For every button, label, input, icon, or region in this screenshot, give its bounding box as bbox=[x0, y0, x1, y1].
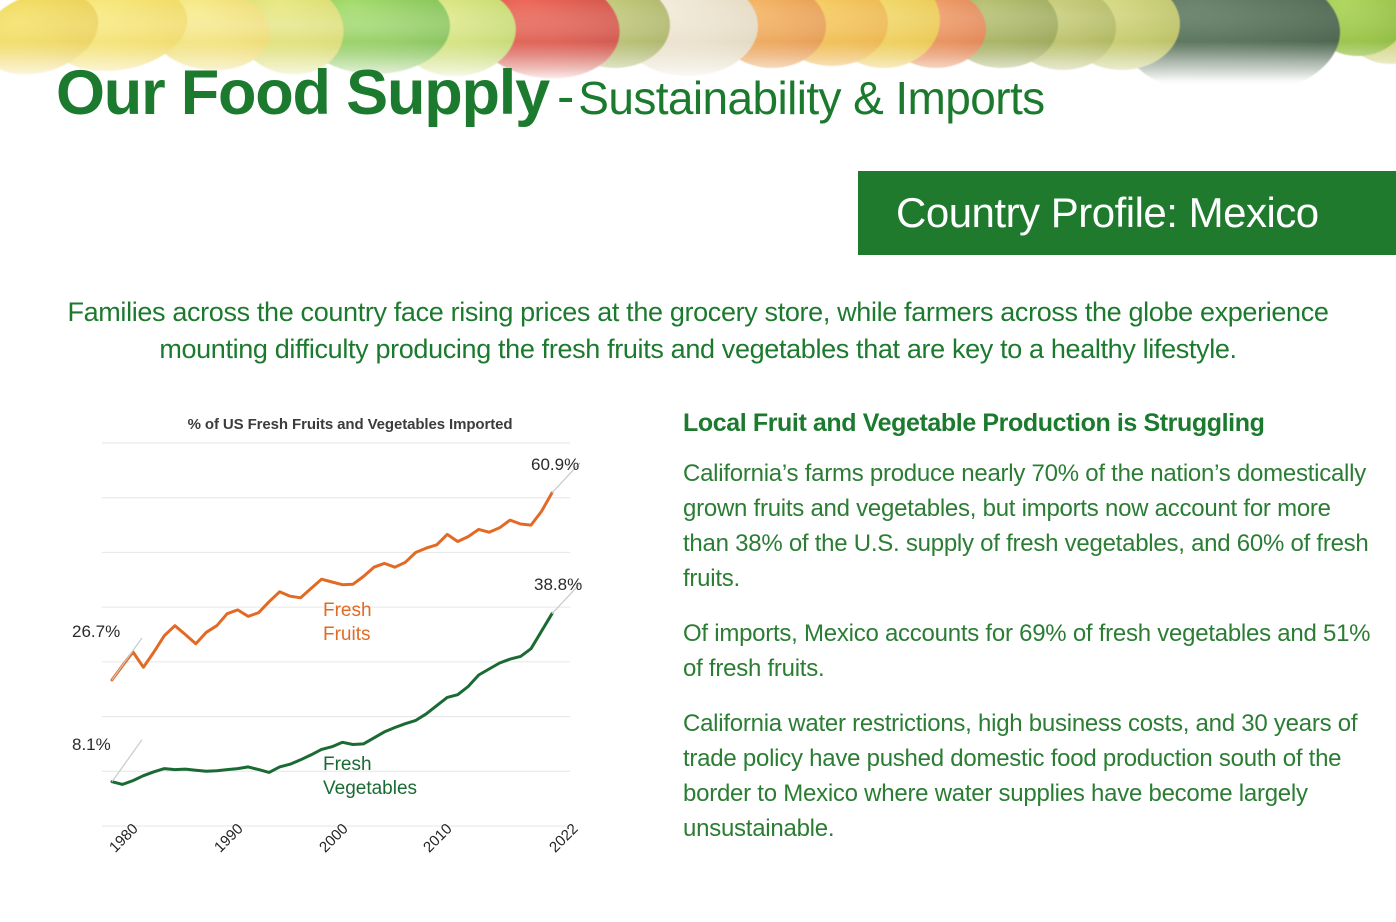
country-profile-label: Country Profile: Mexico bbox=[896, 189, 1319, 237]
title-main: Our Food Supply bbox=[56, 58, 549, 128]
right-column-paragraph-1: California’s farms produce nearly 70% of… bbox=[683, 456, 1373, 596]
produce-item bbox=[886, 0, 986, 68]
chart-series-fresh-fruits bbox=[112, 493, 552, 680]
annotation-fruits-start: 26.7% bbox=[72, 622, 120, 642]
series-label-fresh-fruits: Fresh Fruits bbox=[323, 599, 372, 647]
annotation-leader-line bbox=[112, 740, 142, 782]
produce-item bbox=[1190, 0, 1286, 68]
produce-item bbox=[1010, 0, 1116, 70]
annotation-vegetables-end: 38.8% bbox=[534, 575, 582, 595]
produce-item bbox=[718, 0, 826, 68]
produce-item bbox=[1120, 0, 1340, 86]
annotation-vegetables-start: 8.1% bbox=[72, 735, 111, 755]
produce-item bbox=[776, 0, 888, 66]
right-column-paragraph-2: Of imports, Mexico accounts for 69% of f… bbox=[683, 616, 1373, 686]
infographic-page: Our Food Supply-Sustainability & Imports… bbox=[0, 0, 1396, 922]
produce-item bbox=[828, 0, 940, 68]
title-subtitle: Sustainability & Imports bbox=[578, 72, 1044, 124]
right-column-heading: Local Fruit and Vegetable Production is … bbox=[683, 408, 1373, 438]
series-label-fresh-vegetables-line1: Fresh bbox=[323, 753, 417, 777]
right-text-column: Local Fruit and Vegetable Production is … bbox=[683, 408, 1373, 866]
page-title: Our Food Supply-Sustainability & Imports bbox=[56, 62, 1045, 125]
series-label-fresh-vegetables: Fresh Vegetables bbox=[323, 753, 417, 801]
intro-paragraph: Families across the country face rising … bbox=[26, 294, 1370, 368]
series-label-fresh-fruits-line2: Fruits bbox=[323, 623, 372, 647]
country-profile-banner: Country Profile: Mexico bbox=[858, 171, 1396, 255]
annotation-fruits-end: 60.9% bbox=[531, 455, 579, 475]
produce-item bbox=[946, 0, 1058, 68]
series-label-fresh-vegetables-line2: Vegetables bbox=[323, 777, 417, 801]
title-dash: - bbox=[549, 68, 578, 126]
produce-item bbox=[1310, 0, 1396, 56]
produce-item bbox=[1345, 0, 1396, 64]
right-column-paragraph-3: California water restrictions, high busi… bbox=[683, 706, 1373, 846]
produce-item bbox=[560, 0, 670, 68]
produce-item bbox=[1064, 0, 1180, 70]
series-label-fresh-fruits-line1: Fresh bbox=[323, 599, 372, 623]
